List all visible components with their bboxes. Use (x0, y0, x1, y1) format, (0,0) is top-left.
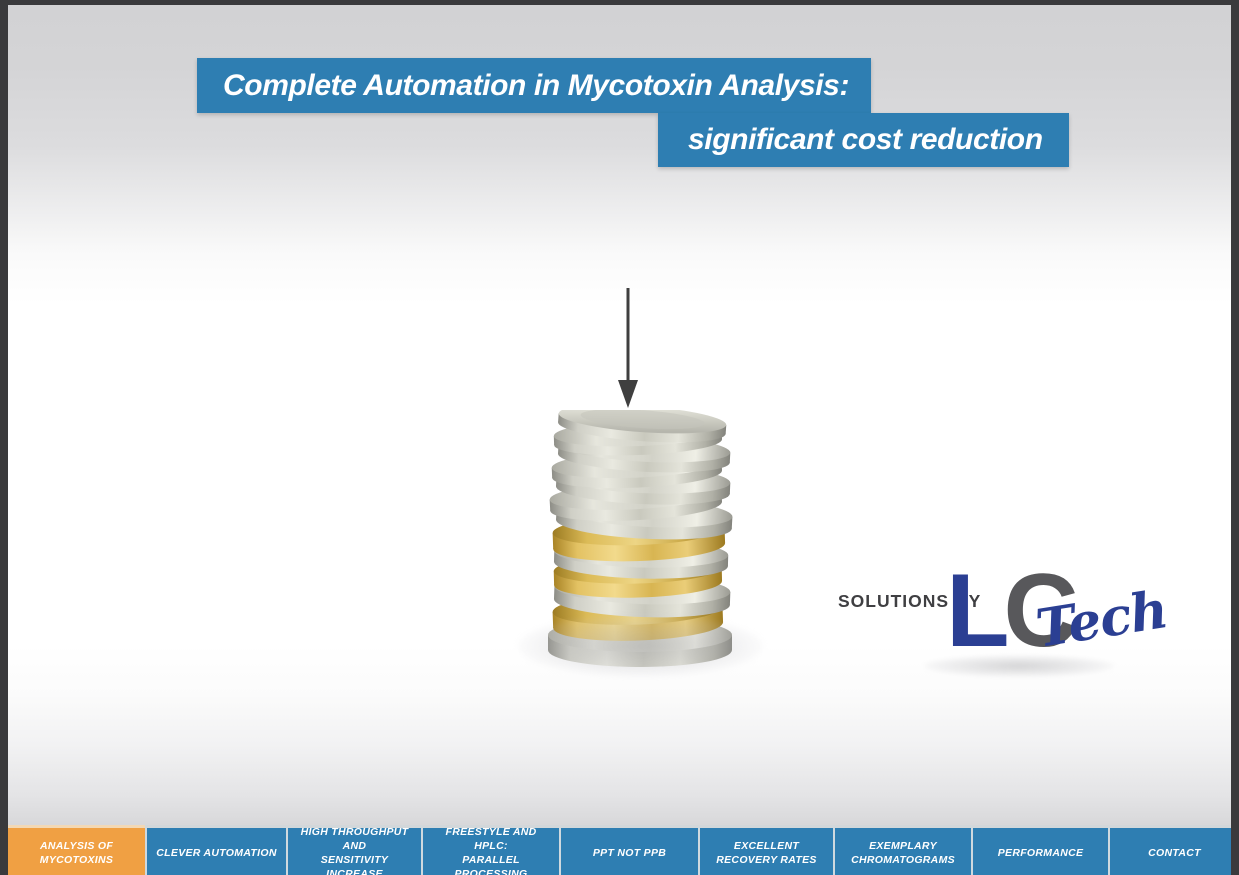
logo-letter-l: L (946, 553, 1004, 669)
nav-tab-performance[interactable]: PERFORMANCE (971, 825, 1108, 875)
euro-coin-stack-image (508, 410, 773, 685)
bottom-navigation-bar: ANALYSIS OF MYCOTOXINSCLEVER AUTOMATIONH… (8, 825, 1231, 875)
nav-tab-analysis-of-mycotoxins[interactable]: ANALYSIS OF MYCOTOXINS (8, 825, 145, 875)
page-title-line-1: Complete Automation in Mycotoxin Analysi… (197, 58, 871, 113)
nav-tab-clever-automation[interactable]: CLEVER AUTOMATION (145, 825, 286, 875)
coin-stack-shadow (518, 615, 763, 677)
lc-tech-logo: SOLUTIONS BY LC Tech (828, 563, 1128, 673)
nav-tab-high-throughput-and-sensitivity-increase[interactable]: HIGH THROUGHPUT AND SENSITIVITY INCREASE (286, 825, 421, 875)
nav-tab-freestyle-and-hplc-parallel-processing[interactable]: FREESTYLE AND HPLC: PARALLEL PROCESSING (421, 825, 559, 875)
slide-canvas: Complete Automation in Mycotoxin Analysi… (8, 5, 1231, 875)
nav-tab-contact[interactable]: CONTACT (1108, 825, 1231, 875)
nav-tab-exemplary-chromatograms[interactable]: EXEMPLARY CHROMATOGRAMS (833, 825, 971, 875)
page-title-line-2: significant cost reduction (658, 113, 1069, 167)
nav-tab-ppt-not-ppb[interactable]: PPT NOT PPB (559, 825, 698, 875)
down-arrow-icon (608, 288, 648, 408)
nav-tab-excellent-recovery-rates[interactable]: EXCELLENT RECOVERY RATES (698, 825, 833, 875)
slide-frame: Complete Automation in Mycotoxin Analysi… (0, 0, 1239, 875)
